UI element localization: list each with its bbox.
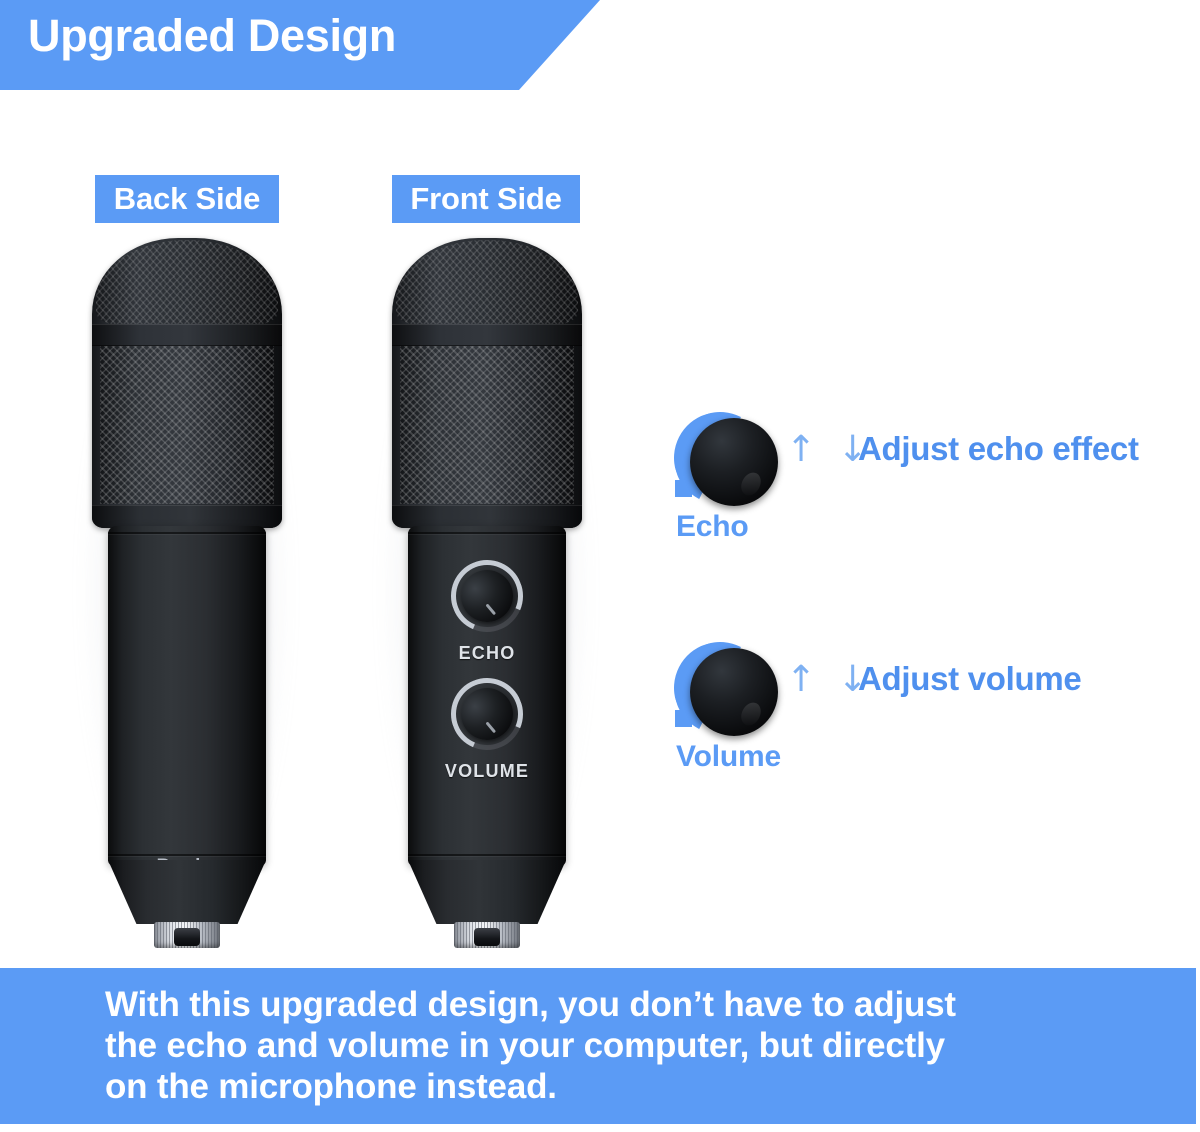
- volume-knob-illustration: [672, 636, 780, 748]
- echo-annotation-text: Adjust echo effect: [858, 432, 1139, 465]
- footer-line-1: With this upgraded design, you don’t hav…: [105, 984, 1115, 1025]
- footer-banner: With this upgraded design, you don’t hav…: [0, 968, 1200, 1124]
- echo-knob-ring[interactable]: [440, 549, 534, 643]
- mic-body-seam-top: [108, 532, 266, 534]
- mic-mount-hole: [474, 928, 500, 946]
- footer-text: With this upgraded design, you don’t hav…: [105, 984, 1115, 1107]
- volume-knob-cap[interactable]: [453, 680, 521, 748]
- volume-knob-label: VOLUME: [408, 761, 566, 782]
- footer-line-2: the echo and volume in your computer, bu…: [105, 1025, 1115, 1066]
- mic-body-seam-top: [408, 532, 566, 534]
- mic-head-ring: [392, 324, 582, 346]
- volume-knob-pointer-icon: [485, 722, 496, 734]
- echo-knob-cap[interactable]: [453, 562, 521, 630]
- page-title: Upgraded Design: [28, 10, 396, 62]
- product-feature-page: Upgraded Design Back Side Front Side Bon…: [0, 0, 1200, 1132]
- volume-annotation-text: Adjust volume: [858, 662, 1081, 695]
- mic-head-base-ring: [392, 505, 582, 528]
- volume-annotation-caption: Volume: [676, 740, 781, 774]
- echo-knob-graphic: [690, 418, 778, 506]
- frame-edge-bottom: [0, 1124, 1200, 1132]
- mic-grille-head: [92, 238, 282, 528]
- footer-line-3: on the microphone instead.: [105, 1066, 1115, 1107]
- mic-grille-head: [392, 238, 582, 528]
- mic-body-seam-bottom: [108, 854, 266, 856]
- echo-knob-label: ECHO: [408, 643, 566, 664]
- mic-body: ECHO VOLUME: [408, 526, 566, 866]
- mic-mesh-panel: [100, 346, 274, 504]
- label-front-side: Front Side: [392, 175, 580, 223]
- mic-volume-knob-group[interactable]: VOLUME: [408, 678, 566, 782]
- mic-mount-hole: [174, 928, 200, 946]
- mic-echo-knob-group[interactable]: ECHO: [408, 560, 566, 664]
- mic-body: Bonke: [108, 526, 266, 866]
- knob-gloss-highlight: [737, 469, 764, 499]
- echo-knob-pointer-icon: [485, 604, 496, 616]
- rotate-arc-tip-icon: [675, 710, 692, 727]
- echo-knob-illustration: [672, 406, 780, 518]
- mic-head-ring: [92, 324, 282, 346]
- knob-gloss-highlight: [737, 699, 764, 729]
- mic-head-base-ring: [92, 505, 282, 528]
- frame-edge-right: [1196, 0, 1200, 1132]
- microphone-front-view: ECHO VOLUME: [370, 238, 602, 950]
- volume-knob-ring[interactable]: [440, 667, 534, 761]
- rotate-arc-tip-icon: [675, 480, 692, 497]
- volume-knob-graphic: [690, 648, 778, 736]
- microphone-back-view: Bonke: [70, 238, 302, 950]
- label-back-side: Back Side: [95, 175, 279, 223]
- mic-mesh-panel: [400, 346, 574, 504]
- mic-body-seam-bottom: [408, 854, 566, 856]
- echo-annotation-caption: Echo: [676, 510, 749, 544]
